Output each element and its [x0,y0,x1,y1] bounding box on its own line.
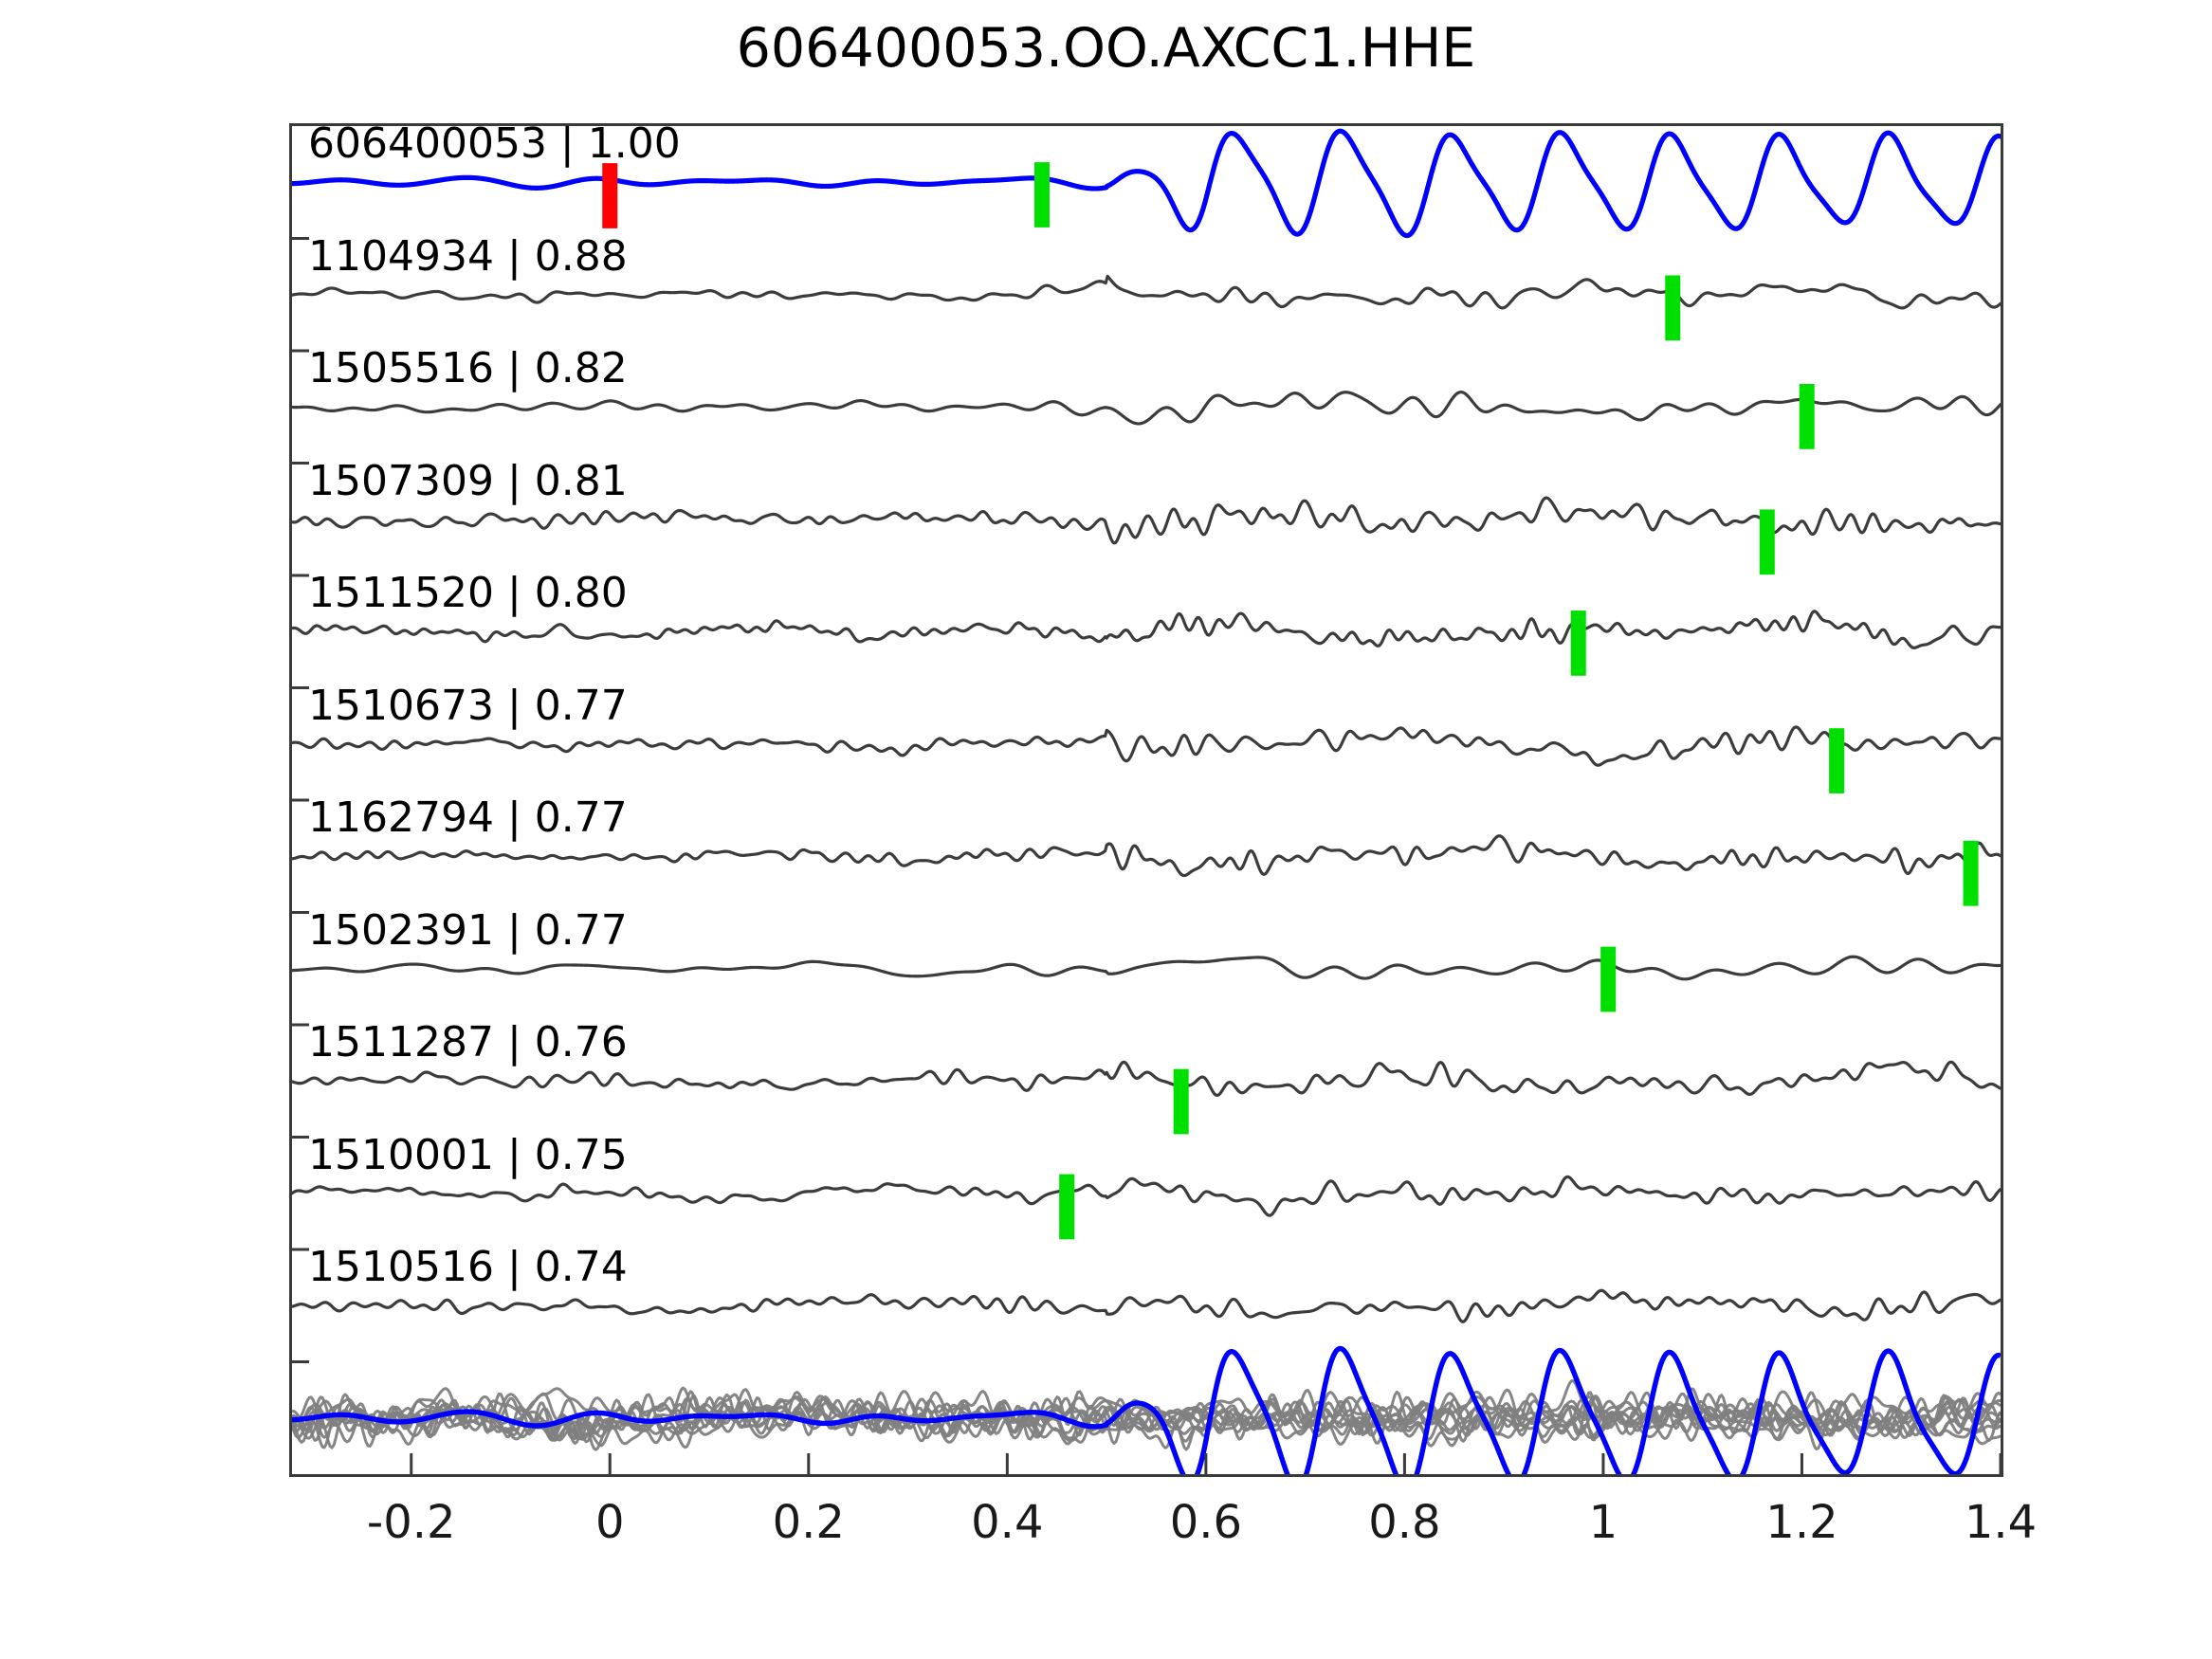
x-tick-label: 0.4 [971,1496,1043,1549]
x-axis-tick-labels: -0.200.20.40.60.811.21.4 [0,1496,2212,1572]
trace-label-1510673: 1510673 | 0.77 [308,682,628,730]
origin-time-marker [602,163,617,228]
waveform-trace-1502391 [292,957,2001,979]
trace-label-1502391: 1502391 | 0.77 [308,906,628,955]
x-tick-label: 0.8 [1368,1496,1440,1549]
trace-line [292,1176,2001,1215]
x-tick-label: -0.2 [367,1496,456,1549]
waveform-trace-1505516 [292,392,2001,424]
detection-pick-marker [1964,841,1979,906]
trace-line [292,1062,2001,1095]
page-title: 606400053.OO.AXCC1.HHE [0,17,2212,80]
trace-label-1507309: 1507309 | 0.81 [308,457,628,505]
waveform-trace-1104934 [292,276,2001,308]
figure-root: 606400053.OO.AXCC1.HHE 606400053 | 1.001… [0,0,2212,1659]
detection-pick-marker [1600,947,1616,1012]
waveform-trace-1510673 [292,727,2001,765]
trace-label-1510001: 1510001 | 0.75 [308,1131,628,1179]
waveform-trace-1510516 [292,1290,2001,1322]
x-tick-label: 0.6 [1170,1496,1242,1549]
stacked-traces-panel [292,1349,2001,1474]
trace-label-1510516: 1510516 | 0.74 [308,1243,628,1291]
trace-label-1162794: 1162794 | 0.77 [308,793,628,842]
x-tick-label: 0 [595,1496,625,1549]
detection-pick-marker [1665,275,1680,340]
trace-label-1511520: 1511520 | 0.80 [308,569,628,617]
trace-label-1511287: 1511287 | 0.76 [308,1018,628,1066]
detection-pick-marker [1760,509,1775,574]
detection-pick-marker [1800,384,1815,449]
waveform-trace-1510001 [292,1176,2001,1215]
trace-line [292,276,2001,308]
trace-line [292,1290,2001,1322]
trace-line [292,957,2001,979]
detection-pick-marker [1059,1175,1074,1240]
trace-line [292,392,2001,424]
x-tick-label: 0.2 [773,1496,845,1549]
detection-pick-marker [1034,162,1050,228]
x-tick-label: 1.2 [1765,1496,1837,1549]
trace-line [292,727,2001,765]
detection-pick-marker [1571,611,1586,676]
trace-label-606400053: 606400053 | 1.00 [308,119,681,168]
detection-pick-marker [1174,1069,1189,1135]
waveform-trace-1511287 [292,1062,2001,1095]
x-tick-label: 1.4 [1965,1496,2037,1549]
trace-label-1104934: 1104934 | 0.88 [308,232,628,281]
detection-pick-marker [1829,728,1844,793]
trace-label-1505516: 1505516 | 0.82 [308,344,628,392]
x-tick-label: 1 [1589,1496,1618,1549]
